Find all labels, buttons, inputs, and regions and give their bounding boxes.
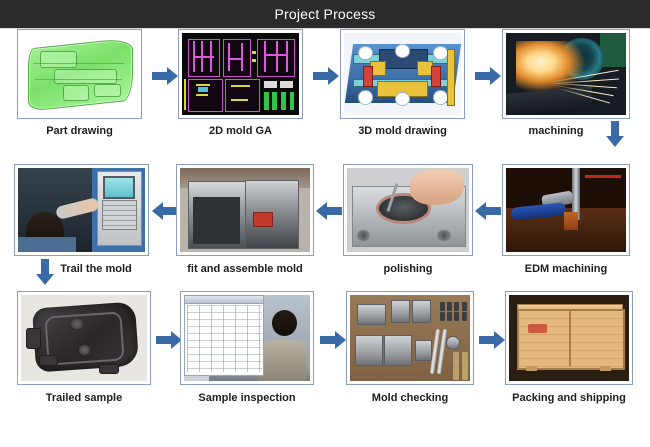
2d-mold-ga-caption: 2D mold GA (178, 125, 303, 137)
arrow-left-icon (152, 202, 178, 220)
arrow-left-icon (316, 202, 342, 220)
process-row-2: Trail the mold (0, 164, 650, 289)
trailed-sample-image (21, 295, 147, 381)
arrow-right-icon (156, 331, 182, 349)
part-drawing-frame (17, 29, 142, 119)
machining-frame (502, 29, 630, 119)
mold-checking-image (350, 295, 470, 381)
arrow-left-icon (475, 202, 501, 220)
fit-and-assemble-mold-frame (176, 164, 314, 256)
trail-the-mold-image (18, 168, 145, 252)
trail-the-mold-caption: Trail the mold (36, 263, 156, 275)
fit-and-assemble-mold-image (180, 168, 310, 252)
mold-checking-frame (346, 291, 474, 385)
3d-mold-drawing-caption: 3D mold drawing (340, 125, 465, 137)
page-title: Project Process (0, 0, 650, 28)
machining-image (506, 33, 626, 115)
header-bar: Project Process (0, 0, 650, 28)
machining-caption: machining (502, 125, 610, 137)
part-drawing-caption: Part drawing (17, 125, 142, 137)
arrow-right-icon (475, 67, 501, 85)
part-drawing-image (21, 33, 138, 115)
process-sheet: Part drawing (0, 29, 650, 447)
polishing-image (347, 168, 469, 252)
packing-and-shipping-caption: Packing and shipping (505, 392, 633, 404)
sample-inspection-caption: Sample inspection (180, 392, 314, 404)
edm-machining-frame (502, 164, 630, 256)
packing-and-shipping-image (509, 295, 629, 381)
2d-mold-ga-frame (178, 29, 303, 119)
edm-machining-caption: EDM machining (502, 263, 630, 275)
arrow-right-icon (479, 331, 505, 349)
arrow-right-icon (152, 67, 178, 85)
fit-and-assemble-mold-caption: fit and assemble mold (176, 263, 314, 275)
arrow-down-icon (36, 259, 54, 285)
trail-the-mold-frame (14, 164, 149, 256)
arrow-down-icon (606, 121, 624, 147)
3d-mold-drawing-image (344, 33, 461, 115)
process-row-1: Part drawing (0, 29, 650, 154)
arrow-right-icon (320, 331, 346, 349)
2d-mold-ga-image (182, 33, 299, 115)
3d-mold-drawing-frame (340, 29, 465, 119)
sample-inspection-image (184, 295, 310, 381)
polishing-frame (343, 164, 473, 256)
trailed-sample-caption: Trailed sample (17, 392, 151, 404)
process-row-3: Trailed sample (0, 291, 650, 421)
edm-machining-image (506, 168, 626, 252)
trailed-sample-frame (17, 291, 151, 385)
mold-checking-caption: Mold checking (346, 392, 474, 404)
sample-inspection-frame (180, 291, 314, 385)
packing-and-shipping-frame (505, 291, 633, 385)
arrow-right-icon (313, 67, 339, 85)
polishing-caption: polishing (343, 263, 473, 275)
